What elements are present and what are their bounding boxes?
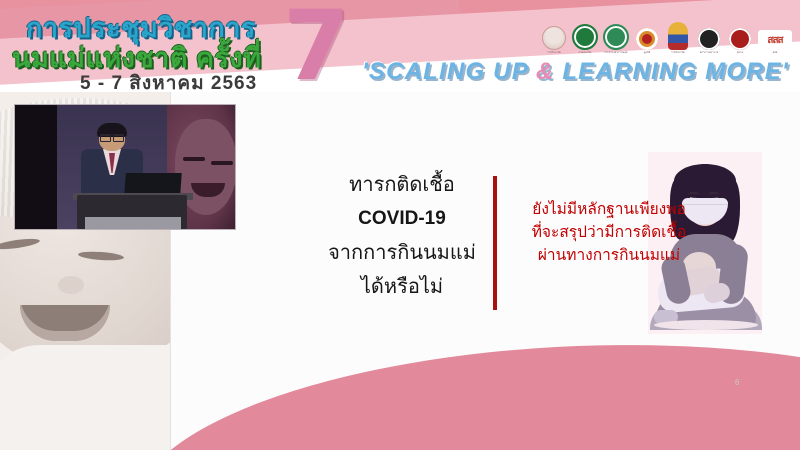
answer-line-1: ยังไม่มีหลักฐานเพียงพอ [500,198,718,221]
logo-pediatric-society: ชมรม [727,22,753,54]
mother-eye-left [688,192,699,197]
video-baby-eye-right [211,161,233,165]
logo-dept-health: กระทรวงสาธารณสุข [603,22,629,54]
sponsor-logos: ราชวิทยาลัย กรมอนามัย กระทรวงสาธารณสุข ม… [541,22,792,54]
logo-caption: กรมอนามัย [572,51,598,54]
question-line-3: จากการกินนมแม่ [322,236,482,270]
mother-eye-right [708,192,719,197]
question-line-2: COVID-19 [322,202,482,236]
logo-royal-emblem: ราชวิทยาลัย [541,22,567,54]
question-line-1: ทารกติดเชื้อ [322,168,482,202]
speaker-video-thumbnail[interactable] [14,104,236,230]
bottom-wave-dark [170,329,800,450]
logo-nurse-council-icon [698,28,720,50]
tagline-post: LEARNING MORE' [554,58,788,85]
podium-base [85,217,181,229]
logo-ministry-public-health-icon [572,24,598,50]
video-baby-eye-left [183,157,205,161]
figure-shadow [654,320,758,330]
logo-caption: สภาการพยาบาล [696,51,722,54]
conference-tagline: 'SCALING UP & LEARNING MORE' [362,58,789,86]
logo-dept-health-icon [603,24,629,50]
tagline-pre: 'SCALING UP [362,58,536,85]
speaker-glasses-icon [100,134,124,140]
question-text-block: ทารกติดเชื้อ COVID-19 จากการกินนมแม่ ได้… [322,168,482,304]
logo-royal-crest-icon [668,22,688,50]
logo-royal-crest: ราชวิทยาลัย [665,22,691,54]
vertical-divider-bar [493,176,497,310]
tagline-ampersand: & [536,58,555,85]
logo-caption: ราชวิทยาลัย [541,51,567,54]
page-number: 6 [735,378,739,387]
baby-nose [58,276,84,294]
logo-caption: ราชวิทยาลัย [665,51,691,54]
logo-caption: สสส [762,51,788,54]
answer-text-block: ยังไม่มีหลักฐานเพียงพอ ที่จะสรุปว่ามีการ… [500,198,718,267]
conference-header-banner: 7 การประชุมวิชาการ นมแม่แห่งชาติ ครั้งที… [0,0,800,92]
answer-line-2: ที่จะสรุปว่ามีการติดเชื้อ [500,221,718,244]
logo-caption: มูลนิธิ [634,51,660,54]
logo-thaihealth: สสสสสส [758,22,792,54]
video-dark-panel [15,105,57,229]
logo-pediatric-society-icon [729,28,751,50]
laptop-screen [124,173,182,195]
conference-date: 5 - 7 สิงหาคม 2563 [80,68,257,92]
logo-thai-breastfeeding: มูลนิธิ [634,22,660,54]
answer-line-3: ผ่านทางการกินนมแม่ [500,244,718,267]
logo-caption: กระทรวงสาธารณสุข [603,51,629,54]
logo-caption: ชมรม [727,51,753,54]
logo-royal-emblem-icon [542,26,566,50]
logo-thaihealth-icon: สสส [758,30,792,50]
question-line-4: ได้หรือไม่ [322,270,482,304]
edition-number: 7 [283,0,350,92]
logo-nurse-council: สภาการพยาบาล [696,22,722,54]
slide-screenshot: 7 การประชุมวิชาการ นมแม่แห่งชาติ ครั้งที… [0,0,800,450]
logo-ministry-public-health: กรมอนามัย [572,22,598,54]
logo-thai-breastfeeding-icon [636,28,658,50]
